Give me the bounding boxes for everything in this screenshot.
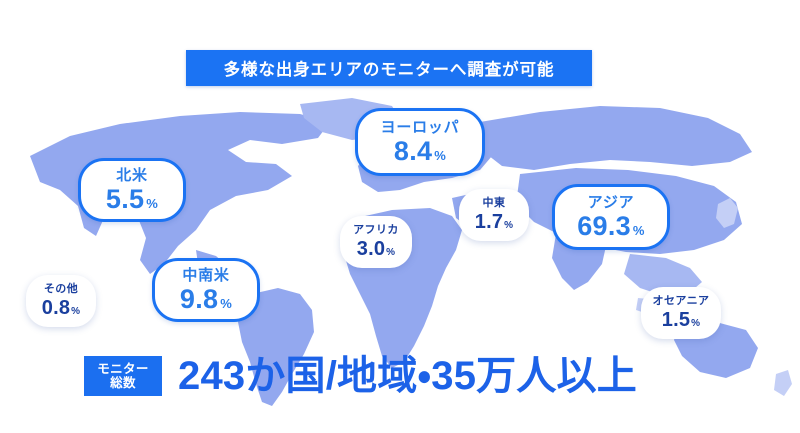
title-banner: 多様な出身エリアのモニターへ調査が可能 [186,50,592,86]
region-value-oceania: 1.5% [662,310,701,330]
region-pill-oceania[interactable]: オセアニア 1.5% [641,287,721,339]
footer-headline: 243か国/地域・35万人以上 [178,356,637,396]
region-label-africa: アフリカ [353,225,399,236]
region-number-latin-america: 9.8 [180,286,218,313]
region-value-middle-east: 1.7% [475,212,514,232]
region-label-oceania: オセアニア [653,296,710,307]
region-pill-europe[interactable]: ヨーロッパ 8.4% [355,108,485,176]
region-pill-latin-america[interactable]: 中南米 9.8% [152,258,260,322]
region-number-middle-east: 1.7 [475,212,503,232]
percent-sign-other: % [71,307,80,317]
region-number-africa: 3.0 [357,239,385,259]
region-number-asia: 69.3 [577,213,631,240]
landmass-north-asia [480,106,752,170]
region-label-asia: アジア [588,195,635,210]
region-number-oceania: 1.5 [662,310,690,330]
region-value-africa: 3.0% [357,239,396,259]
region-pill-other[interactable]: その他 0.8% [26,275,96,327]
region-label-north-america: 北米 [116,168,148,183]
region-pill-asia[interactable]: アジア 69.3% [552,184,670,250]
percent-sign-asia: % [633,224,645,237]
region-number-north-america: 5.5 [106,186,144,213]
percent-sign-latin-america: % [220,297,232,310]
region-pill-middle-east[interactable]: 中東 1.7% [459,189,529,241]
region-value-asia: 69.3% [577,213,644,240]
region-number-other: 0.8 [42,298,70,318]
region-pill-north-america[interactable]: 北米 5.5% [78,158,186,222]
monitor-total-badge-line1: モニター [97,362,149,376]
title-banner-text: 多様な出身エリアのモニターへ調査が可能 [224,56,555,80]
percent-sign-oceania: % [691,319,700,329]
region-pill-africa[interactable]: アフリカ 3.0% [340,216,412,268]
region-label-latin-america: 中南米 [182,268,229,283]
region-value-other: 0.8% [42,298,81,318]
percent-sign-europe: % [434,149,446,162]
monitor-total-badge-line2: 総数 [110,376,136,390]
footer-summary: モニター 総数 243か国/地域・35万人以上 [84,356,637,396]
region-value-europe: 8.4% [394,138,446,165]
infographic-canvas: 多様な出身エリアのモニターへ調査が可能 北米 5.5% ヨーロッパ 8.4% ア… [0,0,800,433]
percent-sign-middle-east: % [504,221,513,231]
landmass-new-zealand [774,370,792,396]
region-value-north-america: 5.5% [106,186,158,213]
percent-sign-north-america: % [146,197,158,210]
region-number-europe: 8.4 [394,138,432,165]
region-label-other: その他 [44,284,78,295]
region-value-latin-america: 9.8% [180,286,232,313]
monitor-total-badge: モニター 総数 [84,356,162,396]
region-label-europe: ヨーロッパ [381,120,460,135]
percent-sign-africa: % [386,248,395,258]
region-label-middle-east: 中東 [483,198,506,209]
